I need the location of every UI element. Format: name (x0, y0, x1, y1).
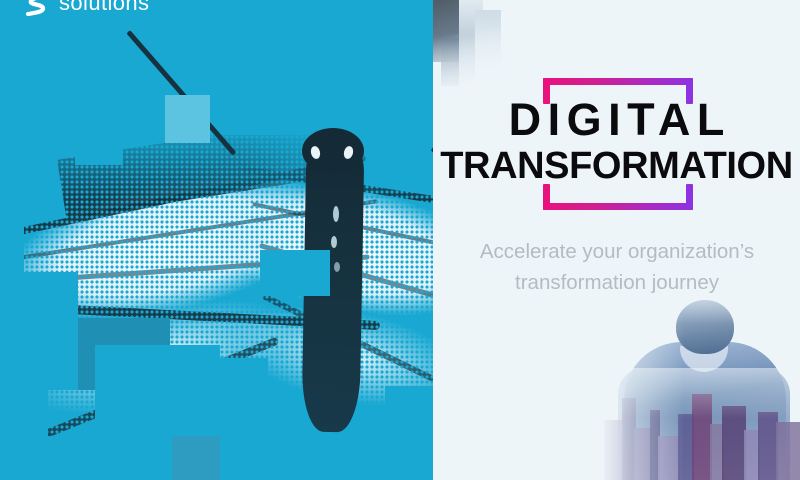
swirl-ribbon-mark-icon (24, 0, 50, 16)
mosaic-block (96, 400, 172, 480)
mosaic-block (0, 330, 78, 390)
mosaic-block (165, 95, 210, 143)
brand-logo[interactable]: solutions (24, 0, 149, 16)
mosaic-block (0, 135, 30, 180)
right-content-panel: DIGITAL TRANSFORMATION Accelerate your o… (433, 0, 800, 480)
bracket-bottom-right (686, 184, 693, 210)
moth-body-marking (331, 236, 337, 248)
logo-wordmark: solutions (59, 0, 149, 16)
mosaic-block (260, 250, 330, 296)
mosaic-block (0, 180, 24, 272)
sky-fill-solid (0, 0, 433, 135)
double-exposure-fade (600, 280, 800, 480)
left-artwork-panel (0, 0, 433, 480)
bracket-top-bar (543, 78, 693, 85)
headline-line-transformation: TRANSFORMATION (433, 146, 800, 186)
mosaic-block (48, 436, 96, 480)
mosaic-block (385, 386, 433, 432)
mosaic-block (0, 272, 78, 320)
headline-line-digital: DIGITAL (433, 96, 800, 144)
bracket-bottom-bar (543, 203, 693, 210)
mosaic-block (318, 434, 366, 480)
moth-body-marking (334, 262, 340, 272)
digital-transformation-banner: DIGITAL TRANSFORMATION Accelerate your o… (0, 0, 800, 480)
headline: DIGITAL TRANSFORMATION (433, 96, 800, 186)
moth-body-marking (333, 206, 339, 222)
mosaic-block (0, 390, 48, 436)
mosaic-block (75, 120, 123, 165)
subtitle-text: Accelerate your organization’s transform… (447, 236, 787, 298)
mosaic-block (170, 436, 220, 480)
mosaic-block (222, 390, 270, 440)
businessman-city-double-exposure (600, 280, 800, 480)
faded-photo-fragment (433, 0, 505, 92)
mosaic-block (0, 436, 48, 480)
bracket-bottom-left (543, 184, 550, 210)
photo-fragment-fade (433, 0, 505, 92)
